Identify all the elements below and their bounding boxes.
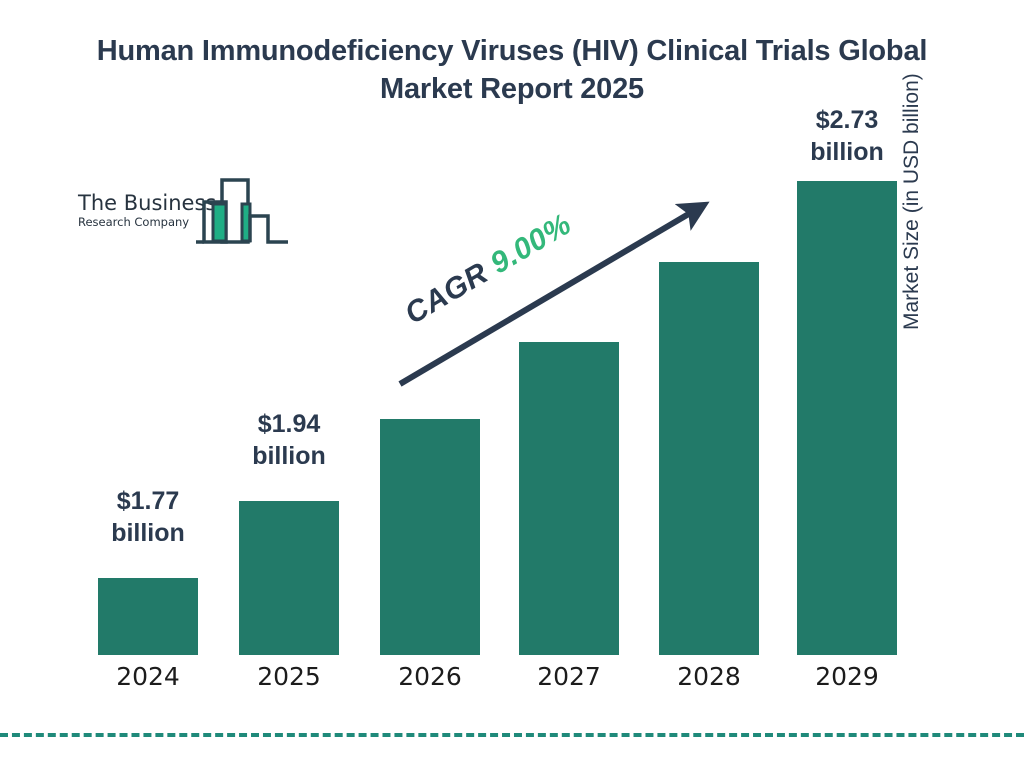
y-axis-label: Market Size (in USD billion)	[900, 0, 924, 330]
cagr-value: 9.00%	[485, 208, 577, 281]
x-tick-2026: 2026	[380, 662, 480, 691]
bar-2028[interactable]	[659, 262, 759, 655]
x-tick-2027: 2027	[519, 662, 619, 691]
x-tick-2028: 2028	[659, 662, 759, 691]
bar-2029[interactable]	[797, 181, 897, 655]
x-tick-2024: 2024	[98, 662, 198, 691]
x-tick-2029: 2029	[797, 662, 897, 691]
bar-2027[interactable]	[519, 342, 619, 655]
bar-2025[interactable]	[239, 501, 339, 655]
bar-value-label-2025: $1.94 billion	[234, 408, 344, 472]
bottom-divider	[0, 733, 1024, 737]
cagr-word: CAGR	[399, 256, 494, 330]
bar-2024[interactable]	[98, 578, 198, 655]
cagr-label: CAGR 9.00%	[399, 208, 577, 332]
bar-2026[interactable]	[380, 419, 480, 655]
bar-value-label-2029: $2.73 billion	[792, 104, 902, 168]
bar-chart: $1.77 billion $1.94 billion $2.73 billio…	[0, 0, 1024, 768]
bar-value-label-2024: $1.77 billion	[93, 485, 203, 549]
x-tick-2025: 2025	[239, 662, 339, 691]
